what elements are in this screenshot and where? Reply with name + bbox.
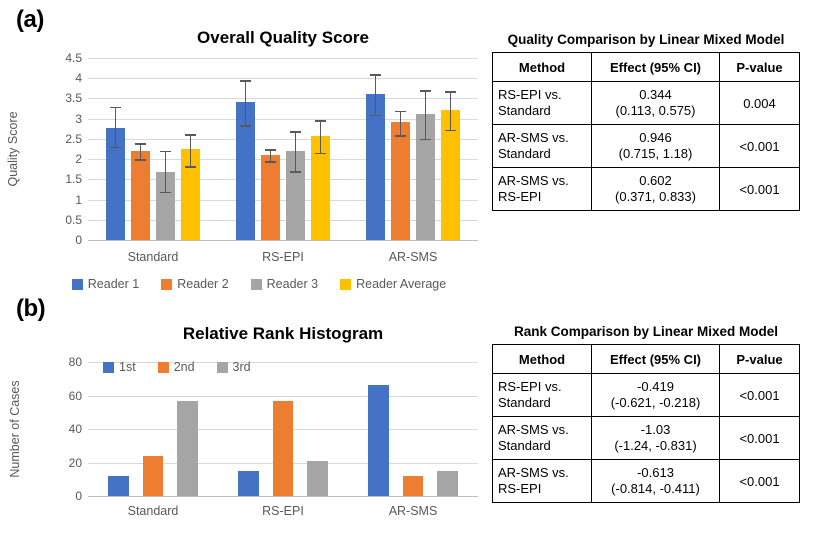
- y-axis-tick-label: 2.5: [0, 133, 82, 145]
- error-bar-cap-lower: [240, 125, 251, 126]
- error-bar: [400, 111, 401, 135]
- cell-pvalue: 0.004: [720, 82, 800, 125]
- bar: [108, 476, 129, 496]
- effect-estimate: -0.419: [637, 379, 674, 394]
- cell-pvalue: <0.001: [720, 460, 800, 503]
- method-line-2: RS-EPI: [498, 189, 541, 204]
- effect-estimate: -0.613: [637, 465, 674, 480]
- cell-method: AR-SMS vs. RS-EPI: [493, 168, 592, 211]
- y-axis-tick-label: 20: [0, 457, 82, 469]
- table-row: RS-EPI vs. Standard 0.344 (0.113, 0.575)…: [493, 82, 800, 125]
- y-axis-tick-label: 4.5: [0, 52, 82, 64]
- error-bar-cap-lower: [370, 115, 381, 116]
- legend-label: 3rd: [233, 360, 251, 374]
- cell-method: AR-SMS vs. Standard: [493, 125, 592, 168]
- column-header-method: Method: [493, 345, 592, 374]
- error-bar: [115, 107, 116, 147]
- cell-method: AR-SMS vs. RS-EPI: [493, 460, 592, 503]
- table-row: RS-EPI vs. Standard -0.419 (-0.621, -0.2…: [493, 374, 800, 417]
- y-axis-tick-label: 2: [0, 153, 82, 165]
- legend-swatch-icon: [161, 279, 172, 290]
- quality-comparison-table-block: Quality Comparison by Linear Mixed Model…: [492, 32, 800, 211]
- x-axis-line: [88, 240, 478, 241]
- error-bar-cap-upper: [135, 143, 146, 144]
- method-line-1: AR-SMS vs.: [498, 130, 569, 145]
- legend-swatch-icon: [103, 362, 114, 373]
- bar: [143, 456, 164, 496]
- x-axis-line: [88, 496, 478, 497]
- error-bar-cap-lower: [395, 135, 406, 136]
- column-header-effect: Effect (95% CI): [592, 345, 720, 374]
- legend-item[interactable]: Reader 1: [72, 277, 139, 291]
- error-bar: [190, 134, 191, 166]
- table-header-row: Method Effect (95% CI) P-value: [493, 345, 800, 374]
- legend-label: Reader 3: [267, 277, 318, 291]
- legend-swatch-icon: [72, 279, 83, 290]
- effect-estimate: 0.946: [639, 130, 672, 145]
- y-axis-tick-label: 0: [0, 490, 82, 502]
- chart-legend: Reader 1Reader 2Reader 3Reader Average: [70, 277, 470, 291]
- error-bar-cap-upper: [420, 90, 431, 91]
- column-header-method: Method: [493, 53, 592, 82]
- error-bar: [270, 149, 271, 161]
- effect-ci: (-1.24, -0.831): [614, 438, 696, 453]
- bar: [368, 385, 389, 496]
- method-line-2: Standard: [498, 438, 551, 453]
- effect-ci: (0.371, 0.833): [615, 189, 696, 204]
- bar: [131, 151, 150, 240]
- y-axis-tick-label: 1: [0, 194, 82, 206]
- method-line-1: RS-EPI vs.: [498, 87, 562, 102]
- column-header-pvalue: P-value: [720, 345, 800, 374]
- y-axis-tick-label: 1.5: [0, 173, 82, 185]
- table-row: AR-SMS vs. RS-EPI 0.602 (0.371, 0.833) <…: [493, 168, 800, 211]
- method-line-1: AR-SMS vs.: [498, 465, 569, 480]
- legend-label: 1st: [119, 360, 136, 374]
- bar: [238, 471, 259, 496]
- chart-title: Relative Rank Histogram: [88, 324, 478, 344]
- panel-b: (b) Relative Rank HistogramNumber of Cas…: [0, 292, 823, 547]
- legend-swatch-icon: [340, 279, 351, 290]
- x-axis-tick-label: AR-SMS: [348, 504, 478, 518]
- legend-item[interactable]: Reader 2: [161, 277, 228, 291]
- table-row: AR-SMS vs. RS-EPI -0.613 (-0.814, -0.411…: [493, 460, 800, 503]
- chart-title: Overall Quality Score: [88, 28, 478, 48]
- error-bar: [245, 80, 246, 125]
- error-bar-cap-upper: [265, 149, 276, 150]
- y-axis-tick-label: 0: [0, 234, 82, 246]
- x-axis-tick-label: RS-EPI: [218, 504, 348, 518]
- gridline: [88, 396, 478, 397]
- legend-item[interactable]: 2nd: [158, 360, 195, 374]
- legend-swatch-icon: [217, 362, 228, 373]
- x-axis-tick-label: Standard: [88, 504, 218, 518]
- y-axis-tick-label: 40: [0, 423, 82, 435]
- legend-label: 2nd: [174, 360, 195, 374]
- effect-ci: (0.715, 1.18): [619, 146, 693, 161]
- error-bar-cap-lower: [445, 130, 456, 131]
- cell-effect: 0.602 (0.371, 0.833): [592, 168, 720, 211]
- bar: [307, 461, 328, 496]
- y-axis-tick-label: 3.5: [0, 92, 82, 104]
- table-row: AR-SMS vs. Standard 0.946 (0.715, 1.18) …: [493, 125, 800, 168]
- method-line-2: Standard: [498, 146, 551, 161]
- effect-estimate: 0.344: [639, 87, 672, 102]
- x-axis-tick-label: RS-EPI: [218, 250, 348, 264]
- cell-method: AR-SMS vs. Standard: [493, 417, 592, 460]
- legend-item[interactable]: 1st: [103, 360, 136, 374]
- error-bar-cap-lower: [135, 159, 146, 160]
- legend-item[interactable]: 3rd: [217, 360, 251, 374]
- error-bar: [295, 131, 296, 171]
- error-bar-cap-upper: [185, 134, 196, 135]
- quality-comparison-table-caption: Quality Comparison by Linear Mixed Model: [492, 32, 800, 47]
- error-bar-cap-upper: [395, 111, 406, 112]
- quality-comparison-table: Method Effect (95% CI) P-value RS-EPI vs…: [492, 52, 800, 211]
- x-axis-tick-label: AR-SMS: [348, 250, 478, 264]
- error-bar-cap-lower: [265, 161, 276, 162]
- cell-pvalue: <0.001: [720, 374, 800, 417]
- effect-ci: (0.113, 0.575): [616, 103, 696, 118]
- y-axis-tick-label: 4: [0, 72, 82, 84]
- effect-ci: (-0.814, -0.411): [611, 481, 700, 496]
- cell-method: RS-EPI vs. Standard: [493, 82, 592, 125]
- error-bar-cap-lower: [160, 192, 171, 193]
- error-bar-cap-upper: [240, 80, 251, 81]
- column-header-effect: Effect (95% CI): [592, 53, 720, 82]
- error-bar: [425, 90, 426, 139]
- error-bar: [165, 151, 166, 192]
- effect-ci: (-0.621, -0.218): [611, 395, 701, 410]
- error-bar-cap-lower: [420, 139, 431, 140]
- cell-effect: -0.419 (-0.621, -0.218): [592, 374, 720, 417]
- legend-label: Reader 1: [88, 277, 139, 291]
- table-header-row: Method Effect (95% CI) P-value: [493, 53, 800, 82]
- chart-legend: 1st2nd3rd: [103, 360, 273, 374]
- error-bar-cap-upper: [110, 107, 121, 108]
- relative-rank-histogram-chart: Relative Rank HistogramNumber of Cases80…: [0, 292, 490, 547]
- error-bar: [320, 120, 321, 153]
- cell-pvalue: <0.001: [720, 168, 800, 211]
- bar: [177, 401, 198, 496]
- gridline: [88, 78, 478, 79]
- legend-swatch-icon: [158, 362, 169, 373]
- x-axis-tick-label: Standard: [88, 250, 218, 264]
- error-bar: [140, 143, 141, 159]
- rank-comparison-table-block: Rank Comparison by Linear Mixed Model Me…: [492, 324, 800, 503]
- panel-a: (a) Overall Quality ScoreQuality Score4.…: [0, 0, 823, 292]
- gridline: [88, 98, 478, 99]
- bar: [273, 401, 294, 496]
- bar: [437, 471, 458, 496]
- legend-label: Reader Average: [356, 277, 446, 291]
- error-bar-cap-lower: [315, 153, 326, 154]
- error-bar-cap-lower: [290, 171, 301, 172]
- legend-item[interactable]: Reader 3: [251, 277, 318, 291]
- overall-quality-score-chart: Overall Quality ScoreQuality Score4.543.…: [0, 0, 490, 292]
- cell-method: RS-EPI vs. Standard: [493, 374, 592, 417]
- effect-estimate: -1.03: [641, 422, 671, 437]
- cell-pvalue: <0.001: [720, 417, 800, 460]
- method-line-2: Standard: [498, 395, 551, 410]
- cell-effect: 0.344 (0.113, 0.575): [592, 82, 720, 125]
- error-bar: [450, 91, 451, 130]
- error-bar-cap-upper: [290, 131, 301, 132]
- bar: [391, 122, 410, 240]
- bar: [261, 155, 280, 240]
- y-axis-tick-label: 60: [0, 390, 82, 402]
- gridline: [88, 58, 478, 59]
- cell-effect: 0.946 (0.715, 1.18): [592, 125, 720, 168]
- cell-effect: -1.03 (-1.24, -0.831): [592, 417, 720, 460]
- error-bar-cap-upper: [445, 91, 456, 92]
- error-bar-cap-upper: [160, 151, 171, 152]
- legend-label: Reader 2: [177, 277, 228, 291]
- method-line-2: RS-EPI: [498, 481, 541, 496]
- y-axis-tick-label: 0.5: [0, 214, 82, 226]
- column-header-pvalue: P-value: [720, 53, 800, 82]
- error-bar: [375, 74, 376, 114]
- error-bar-cap-upper: [315, 120, 326, 121]
- error-bar-cap-lower: [110, 147, 121, 148]
- error-bar-cap-lower: [185, 166, 196, 167]
- method-line-2: Standard: [498, 103, 551, 118]
- error-bar-cap-upper: [370, 74, 381, 75]
- method-line-1: AR-SMS vs.: [498, 422, 569, 437]
- rank-comparison-table-caption: Rank Comparison by Linear Mixed Model: [492, 324, 800, 339]
- y-axis-tick-label: 3: [0, 113, 82, 125]
- method-line-1: RS-EPI vs.: [498, 379, 562, 394]
- cell-effect: -0.613 (-0.814, -0.411): [592, 460, 720, 503]
- legend-swatch-icon: [251, 279, 262, 290]
- method-line-1: AR-SMS vs.: [498, 173, 569, 188]
- y-axis-tick-label: 80: [0, 356, 82, 368]
- table-row: AR-SMS vs. Standard -1.03 (-1.24, -0.831…: [493, 417, 800, 460]
- legend-item[interactable]: Reader Average: [340, 277, 446, 291]
- bar: [403, 476, 424, 496]
- rank-comparison-table: Method Effect (95% CI) P-value RS-EPI vs…: [492, 344, 800, 503]
- effect-estimate: 0.602: [639, 173, 672, 188]
- cell-pvalue: <0.001: [720, 125, 800, 168]
